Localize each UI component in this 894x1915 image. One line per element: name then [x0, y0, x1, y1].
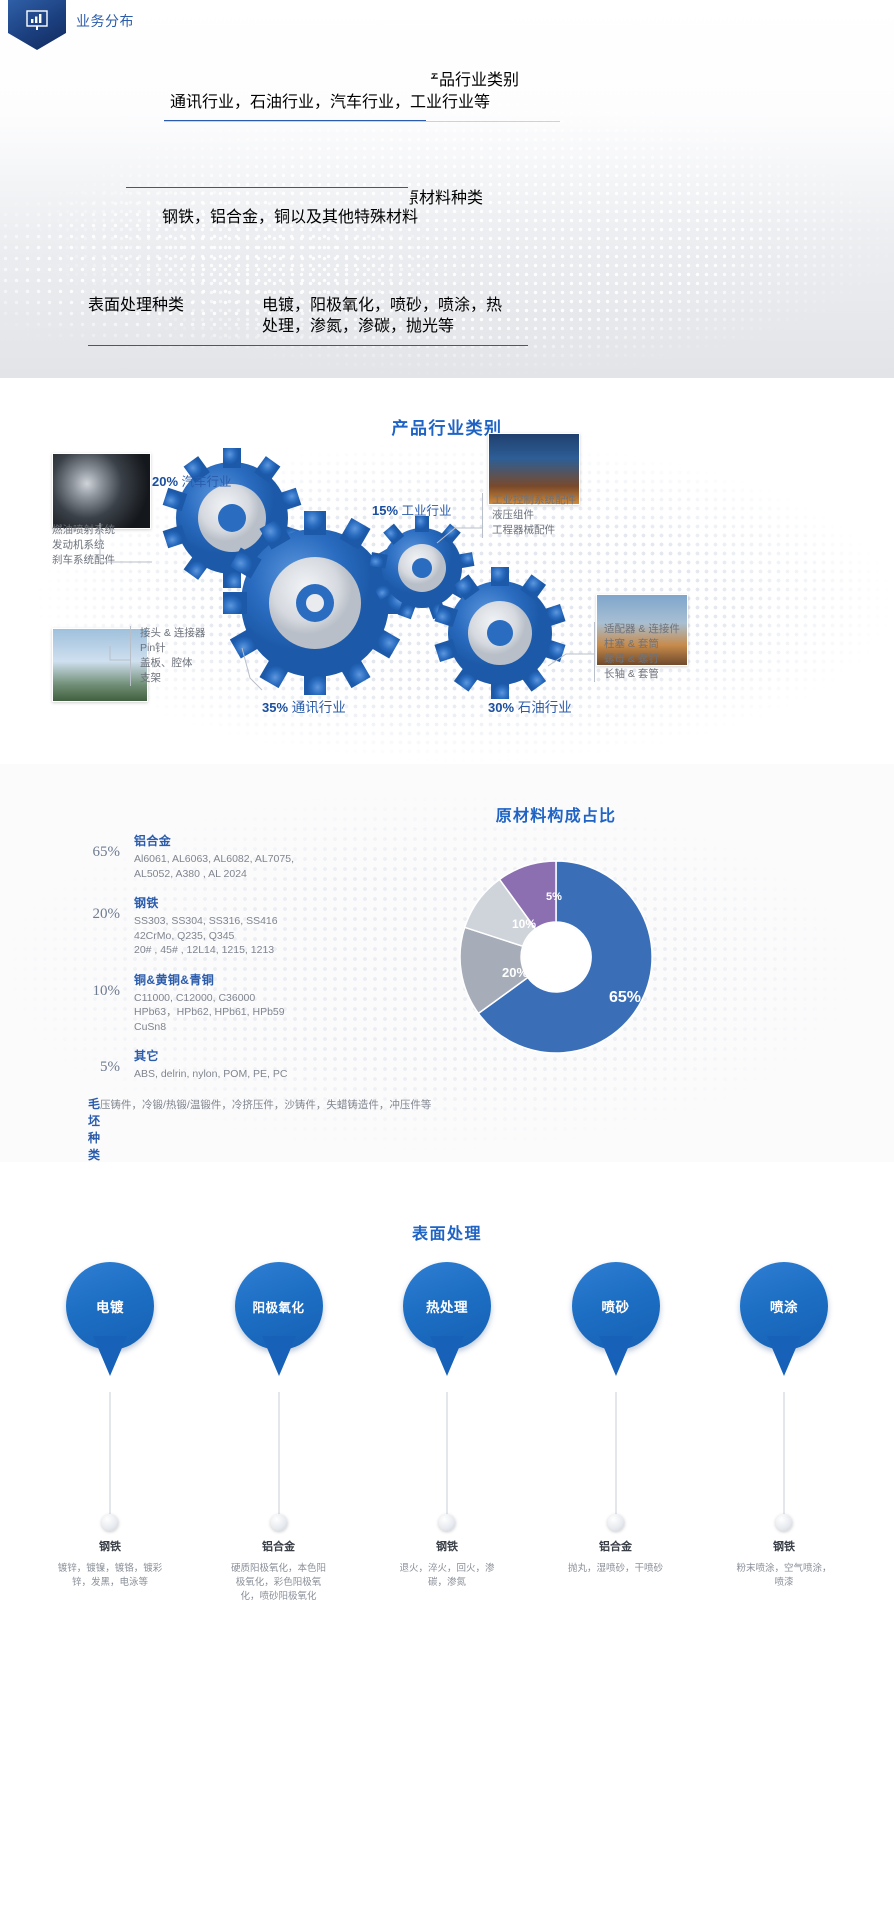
material-name: 铜&黄铜&青铜	[134, 971, 418, 988]
blank-type-value: 压铸件，冷锻/热锻/温锻件，冷挤压件，沙铸件，失蜡铸造件，冲压件等	[100, 1097, 431, 1112]
pin-stem	[615, 1392, 616, 1520]
pin-dot-icon	[439, 1514, 456, 1531]
business-distribution-page: 业务分布 通讯行业，石油行业，汽车行业，工业行业等 产品行业类别 钢铁，铝合金，…	[0, 0, 894, 1915]
pin-stem	[110, 1392, 111, 1520]
material-pct: 20%	[88, 894, 134, 923]
material-row: 65% 铝合金 Al6061, AL6063, AL6082, AL7075, …	[88, 832, 418, 881]
materials-section: 65% 铝合金 Al6061, AL6063, AL6082, AL7075, …	[0, 764, 894, 1162]
material-row: 20% 钢铁 SS303, SS304, SS316, SS416 42CrMo…	[88, 894, 418, 958]
pin-marker-icon[interactable]: 喷涂	[740, 1262, 828, 1350]
pin-material: 铝合金	[229, 1538, 329, 1554]
material-pct: 65%	[88, 832, 134, 861]
pin-dot-icon	[776, 1514, 793, 1531]
materials-list: 65% 铝合金 Al6061, AL6063, AL6082, AL7075, …	[88, 832, 418, 1162]
surface-pin-sandblasting[interactable]: 喷砂 铝合金 抛丸，湿喷砂，干喷砂	[566, 1262, 666, 1350]
material-row: 5% 其它 ABS, delrin, nylon, POM, PE, PC	[88, 1047, 418, 1082]
page-header: 业务分布	[8, 0, 134, 50]
surface-section-title: 表面处理	[0, 1220, 894, 1244]
overview-ribbon-1[interactable]: 产品行业类别	[423, 66, 540, 124]
surface-treatment-section: 表面处理 电镀 钢铁 镀锌，镀镍，镀铬，镀彩 锌，发黑，电泳等 阳极氧化 铝合金…	[0, 1162, 894, 1915]
pin-dot-icon	[607, 1514, 624, 1531]
pin-marker-icon[interactable]: 电镀	[66, 1262, 154, 1350]
blank-type-label: 毛坯种类	[88, 1095, 100, 1163]
material-detail: ABS, delrin, nylon, POM, PE, PC	[134, 1067, 418, 1082]
pin-stem	[447, 1392, 448, 1520]
pin-marker-icon[interactable]: 阳极氧化	[235, 1262, 323, 1350]
blank-type-row: 毛坯种类 压铸件，冷锻/热锻/温锻件，冷挤压件，沙铸件，失蜡铸造件，冲压件等	[88, 1095, 418, 1163]
pin-stem	[784, 1392, 785, 1520]
material-pct: 10%	[88, 971, 134, 1000]
material-name: 铝合金	[134, 832, 418, 849]
donut-chart-title: 原材料构成占比	[406, 802, 706, 826]
leader-lines	[0, 378, 894, 764]
pin-marker-icon[interactable]: 热处理	[403, 1262, 491, 1350]
material-name: 其它	[134, 1047, 418, 1064]
overview-ribbon-3[interactable]: 表面处理种类	[88, 291, 234, 335]
pie-label-5: 5%	[546, 891, 562, 903]
pin-desc: 抛丸，湿喷砂，干喷砂	[554, 1562, 678, 1576]
overview-desc-2: 钢铁，铝合金，铜以及其他特殊材料	[162, 203, 418, 227]
material-detail: Al6061, AL6063, AL6082, AL7075, AL5052, …	[134, 852, 418, 881]
surface-pin-list: 电镀 钢铁 镀锌，镀镍，镀铬，镀彩 锌，发黑，电泳等 阳极氧化 铝合金 硬质阳极…	[60, 1262, 834, 1350]
overview-row-rule-2	[126, 187, 408, 188]
material-pct: 5%	[88, 1047, 134, 1076]
material-name: 钢铁	[134, 894, 418, 911]
materials-donut-chart: 65% 20% 10% 5%	[396, 842, 716, 1072]
pin-dot-icon	[102, 1514, 119, 1531]
pin-desc: 镀锌，镀镍，镀铬，镀彩 锌，发黑，电泳等	[48, 1562, 172, 1590]
overview-desc-3: 电镀，阳极氧化，喷砂，喷涂，热处理，渗氮，渗碳，抛光等	[262, 295, 502, 337]
page-title: 业务分布	[76, 11, 134, 31]
material-detail: C11000, C12000, C36000 HPb63，HPb62, HPb6…	[134, 991, 418, 1035]
material-row: 10% 铜&黄铜&青铜 C11000, C12000, C36000 HPb63…	[88, 971, 418, 1035]
pin-material: 钢铁	[397, 1538, 497, 1554]
industry-section: 产品行业类别	[0, 378, 894, 764]
surface-pin-anodizing[interactable]: 阳极氧化 铝合金 硬质阳极氧化，本色阳 极氧化，彩色阳极氧 化，喷砂阳极氧化	[229, 1262, 329, 1350]
surface-pin-spraying[interactable]: 喷涂 钢铁 粉末喷涂，空气喷涂， 喷漆	[734, 1262, 834, 1350]
pin-dot-icon	[270, 1514, 287, 1531]
pin-stem	[278, 1392, 279, 1520]
overview-ribbon-2[interactable]: 原材料种类	[403, 184, 520, 242]
material-detail: SS303, SS304, SS316, SS416 42CrMo, Q235,…	[134, 914, 418, 958]
chart-presentation-icon	[8, 0, 66, 50]
overview-row-rule-3	[88, 345, 528, 346]
overview-row-rule-1	[164, 120, 426, 121]
pin-marker-icon[interactable]: 喷砂	[572, 1262, 660, 1350]
pin-material: 钢铁	[60, 1538, 160, 1554]
pin-material: 铝合金	[566, 1538, 666, 1554]
pie-label-20: 20%	[502, 965, 528, 980]
pie-label-10: 10%	[512, 917, 536, 931]
pie-label-65: 65%	[609, 989, 641, 1006]
pin-desc: 粉末喷涂，空气喷涂， 喷漆	[722, 1562, 846, 1590]
pin-desc: 退火，淬火，回火，渗 碳，渗氮	[385, 1562, 509, 1590]
surface-pin-heat-treatment[interactable]: 热处理 钢铁 退火，淬火，回火，渗 碳，渗氮	[397, 1262, 497, 1350]
overview-section: 业务分布 通讯行业，石油行业，汽车行业，工业行业等 产品行业类别 钢铁，铝合金，…	[0, 0, 894, 378]
surface-pin-plating[interactable]: 电镀 钢铁 镀锌，镀镍，镀铬，镀彩 锌，发黑，电泳等	[60, 1262, 160, 1350]
pin-desc: 硬质阳极氧化，本色阳 极氧化，彩色阳极氧 化，喷砂阳极氧化	[217, 1562, 341, 1604]
pin-material: 钢铁	[734, 1538, 834, 1554]
